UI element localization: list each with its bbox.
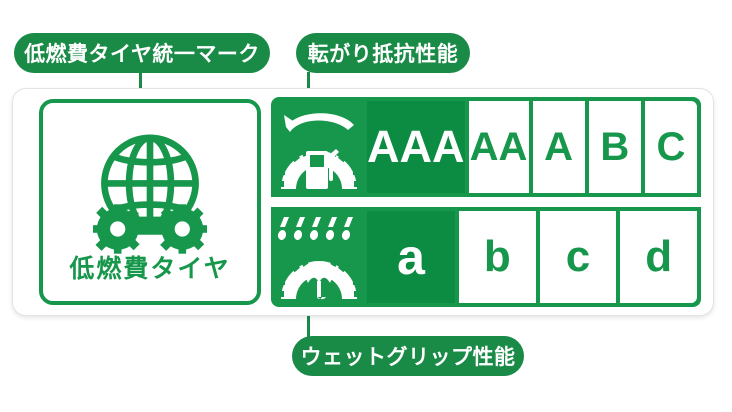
label-card: 低燃費タイヤ [12,88,714,316]
grade-cell-wg-2[interactable]: c [540,211,617,303]
tire-umbrella-rain-icon [276,213,362,301]
grade-cell-rr-0[interactable]: AAA [367,101,465,193]
wet-grip-icon-cell [271,207,367,307]
mark-text: 低燃費タイヤ [69,257,230,282]
grade-cell-rr-4[interactable]: C [645,101,697,193]
callout-rolling-resistance-label: 転がり抵抗性能 [296,33,470,73]
grade-cell-wg-3[interactable]: d [620,211,697,303]
tire-fuel-pump-icon [276,103,362,191]
grade-cell-wg-1[interactable]: b [459,211,536,303]
rolling-resistance-row: AAA AA A B C [271,97,701,197]
tyre-label-diagram: 低燃費タイヤ統一マーク 転がり抵抗性能 ウェットグリップ性能 [0,0,732,412]
wet-grip-row: a b c d [271,207,701,307]
wet-grip-scale: a b c d [367,207,701,307]
grade-cell-rr-3[interactable]: B [589,101,641,193]
rolling-resistance-icon-cell [271,97,367,197]
gear-wheel-right [158,204,207,253]
grade-cell-wg-0[interactable]: a [367,211,455,303]
rolling-resistance-scale: AAA AA A B C [367,97,701,197]
grade-cell-rr-2[interactable]: A [533,101,585,193]
fuel-efficient-tyre-mark: 低燃費タイヤ [39,99,261,305]
grade-cell-rr-1[interactable]: AA [469,101,529,193]
callout-mark-label: 低燃費タイヤ統一マーク [14,33,270,73]
grade-panel: AAA AA A B C [271,97,701,307]
globe-with-tires-icon [74,127,226,255]
gear-wheel-left [93,204,142,253]
callout-wet-grip-label: ウェットグリップ性能 [292,336,524,376]
